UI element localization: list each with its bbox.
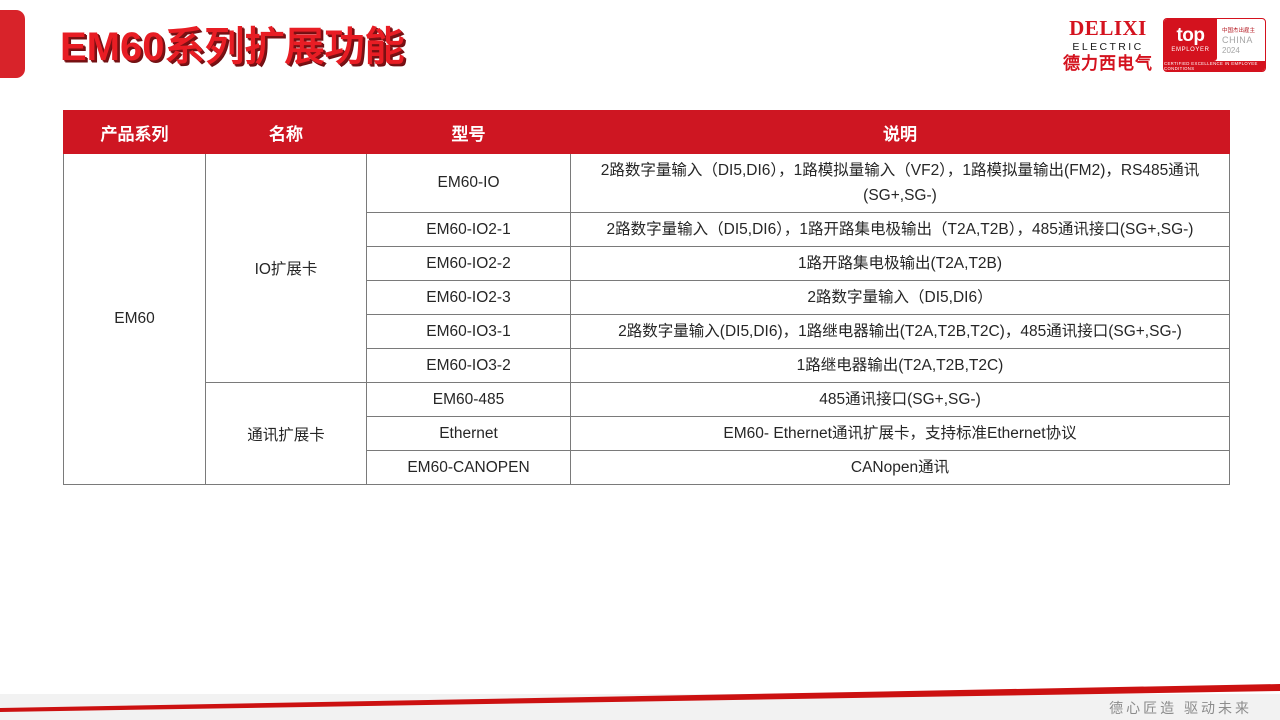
cell-model: EM60-CANOPEN (367, 451, 571, 485)
cell-description: CANopen通讯 (571, 451, 1230, 485)
footer: 德心匠造 驱动未来 (0, 660, 1280, 720)
page-title: EM60系列扩展功能 (60, 18, 405, 76)
cell-model: EM60-IO3-1 (367, 315, 571, 349)
cell-group-name: IO扩展卡 (206, 154, 367, 383)
column-header-series: 产品系列 (64, 111, 206, 154)
accent-bar (0, 10, 25, 78)
cell-description: 2路数字量输入（DI5,DI6），1路模拟量输入（VF2），1路模拟量输出(FM… (571, 154, 1230, 213)
delixi-chinese-name: 德力西电气 (1063, 55, 1153, 72)
badge-employer-word: EMPLOYER (1171, 47, 1209, 53)
column-header-description: 说明 (571, 111, 1230, 154)
cell-group-name: 通讯扩展卡 (206, 383, 367, 485)
badge-country-label: CHINA (1222, 35, 1265, 45)
badge-logo-block: top EMPLOYER (1164, 19, 1217, 61)
cell-model: EM60-IO2-2 (367, 247, 571, 281)
brand-logo-area: DELIXI ELECTRIC 德力西电气 top EMPLOYER 中国杰出雇… (1063, 14, 1266, 76)
cell-model: EM60-IO3-2 (367, 349, 571, 383)
badge-detail-block: 中国杰出雇主 CHINA 2024 (1217, 19, 1265, 61)
cell-description: 1路继电器输出(T2A,T2B,T2C) (571, 349, 1230, 383)
table-row: EM60IO扩展卡EM60-IO2路数字量输入（DI5,DI6），1路模拟量输入… (64, 154, 1230, 213)
spec-table: 产品系列 名称 型号 说明 EM60IO扩展卡EM60-IO2路数字量输入（DI… (63, 110, 1230, 485)
cell-product-series: EM60 (64, 154, 206, 485)
footer-rule-line (0, 660, 1280, 720)
cell-model: EM60-485 (367, 383, 571, 417)
table-body: EM60IO扩展卡EM60-IO2路数字量输入（DI5,DI6），1路模拟量输入… (64, 154, 1230, 485)
cell-description: 2路数字量输入（DI5,DI6），1路开路集电极输出（T2A,T2B），485通… (571, 213, 1230, 247)
badge-certification-strip: CERTIFIED EXCELLENCE IN EMPLOYEE CONDITI… (1164, 61, 1265, 71)
badge-top-word: top (1176, 27, 1204, 44)
cell-model: EM60-IO2-1 (367, 213, 571, 247)
delixi-subtitle: ELECTRIC (1063, 42, 1153, 53)
badge-main: top EMPLOYER 中国杰出雇主 CHINA 2024 (1164, 19, 1265, 61)
cell-model: EM60-IO2-3 (367, 281, 571, 315)
cell-description: EM60- Ethernet通讯扩展卡，支持标准Ethernet协议 (571, 417, 1230, 451)
table-header-row: 产品系列 名称 型号 说明 (64, 111, 1230, 154)
delixi-logo: DELIXI ELECTRIC 德力西电气 (1063, 18, 1153, 73)
table-row: 通讯扩展卡EM60-485485通讯接口(SG+,SG-) (64, 383, 1230, 417)
badge-chinese-label: 中国杰出雇主 (1222, 26, 1265, 34)
badge-year-label: 2024 (1222, 46, 1265, 55)
cell-description: 1路开路集电极输出(T2A,T2B) (571, 247, 1230, 281)
cell-model: Ethernet (367, 417, 571, 451)
column-header-model: 型号 (367, 111, 571, 154)
column-header-name: 名称 (206, 111, 367, 154)
cell-description: 2路数字量输入（DI5,DI6） (571, 281, 1230, 315)
cell-model: EM60-IO (367, 154, 571, 213)
delixi-wordmark: DELIXI (1063, 18, 1153, 39)
top-employer-badge: top EMPLOYER 中国杰出雇主 CHINA 2024 CERTIFIED… (1163, 18, 1266, 72)
footer-tagline: 德心匠造 驱动未来 (1109, 698, 1252, 718)
cell-description: 2路数字量输入(DI5,DI6)，1路继电器输出(T2A,T2B,T2C)，48… (571, 315, 1230, 349)
cell-description: 485通讯接口(SG+,SG-) (571, 383, 1230, 417)
